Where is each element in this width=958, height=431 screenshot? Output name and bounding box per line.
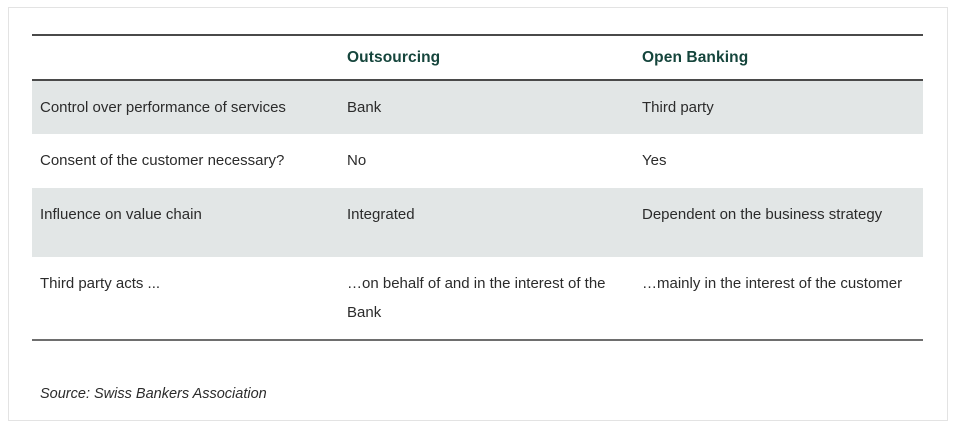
column-header-outsourcing: Outsourcing [339,36,634,80]
cell-criterion: Influence on value chain [32,188,339,257]
figure-frame: Outsourcing Open Banking Control over pe… [8,7,948,421]
table-row: Third party acts ... …on behalf of and i… [32,257,923,341]
cell-criterion: Consent of the customer necessary? [32,134,339,187]
bottom-rule-cell-1 [32,340,339,341]
table-row: Influence on value chain Integrated Depe… [32,188,923,257]
cell-open-banking: Dependent on the business strategy [634,188,923,257]
column-header-criterion [32,36,339,80]
table-bottom-rule [32,340,923,341]
column-header-open-banking: Open Banking [634,36,923,80]
table-header-row: Outsourcing Open Banking [32,36,923,80]
source-note: Source: Swiss Bankers Association [40,386,267,402]
cell-outsourcing: …on behalf of and in the interest of the… [339,257,634,341]
cell-open-banking: …mainly in the interest of the customer [634,257,923,341]
comparison-table: Outsourcing Open Banking Control over pe… [32,34,923,341]
bottom-rule-cell-3 [634,340,923,341]
cell-criterion: Third party acts ... [32,257,339,341]
cell-open-banking: Third party [634,80,923,134]
cell-outsourcing: Bank [339,80,634,134]
table-body: Control over performance of services Ban… [32,80,923,341]
table-header: Outsourcing Open Banking [32,35,923,80]
comparison-table-wrapper: Outsourcing Open Banking Control over pe… [32,34,923,341]
table-row: Consent of the customer necessary? No Ye… [32,134,923,187]
cell-outsourcing: No [339,134,634,187]
bottom-rule-cell-2 [339,340,634,341]
table-row: Control over performance of services Ban… [32,80,923,134]
cell-outsourcing: Integrated [339,188,634,257]
cell-criterion: Control over performance of services [32,80,339,134]
cell-open-banking: Yes [634,134,923,187]
